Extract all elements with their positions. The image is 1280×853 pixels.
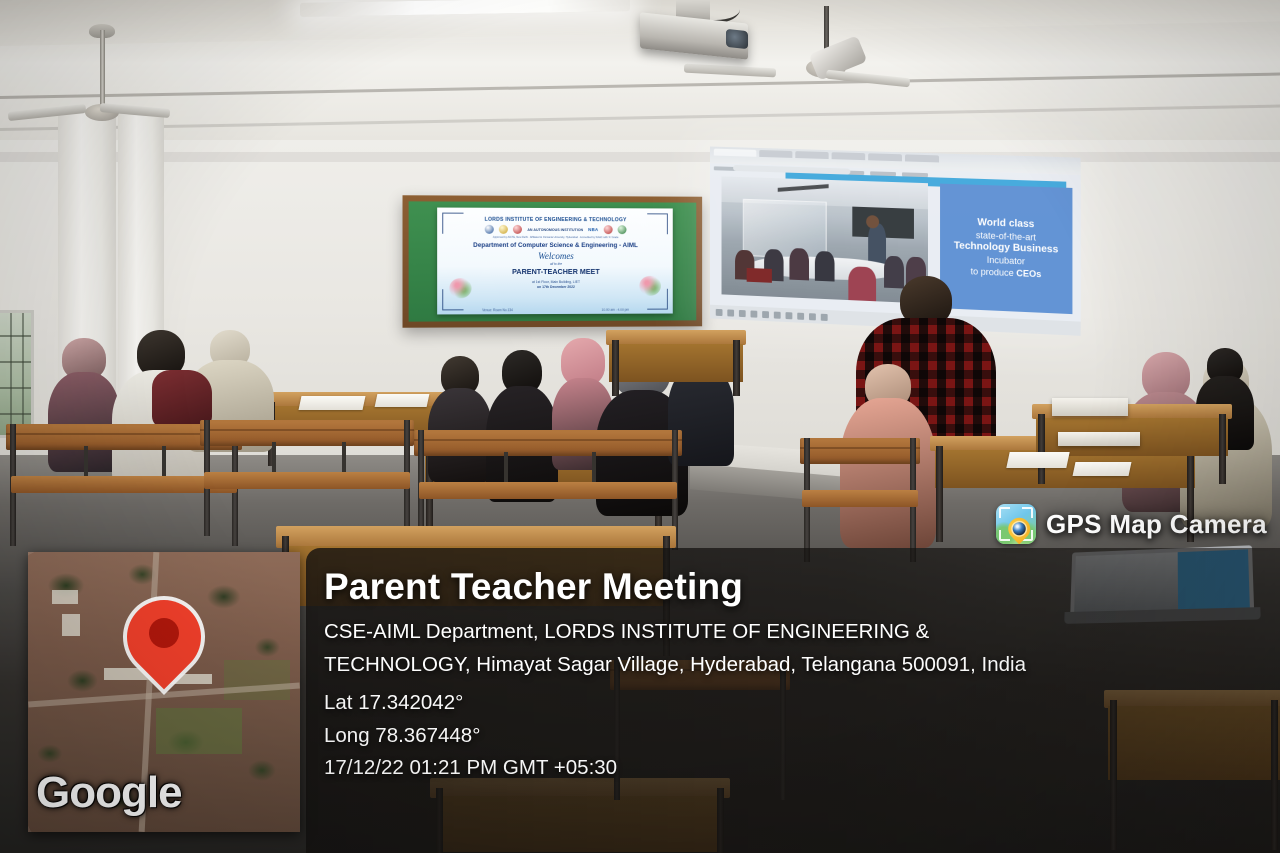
longitude-value: Long 78.367448° [324,720,1264,752]
ceiling-fan-left [42,30,162,82]
map-building-1 [52,590,78,604]
banner-nba: NBA [588,227,598,232]
banner-date: on 17th December 2022 [537,285,575,289]
map-building-2 [62,614,80,636]
latitude-value: Lat 17.342042° [324,687,1264,719]
desk-center-back [606,330,746,386]
flower-decoration-right-icon [639,276,661,296]
paper-right-2 [1073,462,1132,476]
gps-app-name: GPS Map Camera [1046,509,1267,540]
map-field-2 [224,660,290,700]
bench-right [800,438,920,562]
screenshot-root: LORDS INSTITUTE OF ENGINEERING & TECHNOL… [0,0,1280,853]
banner-department: Department of Computer Science & Enginee… [473,242,638,249]
bench-left-front-2 [200,420,414,536]
address-line-2: TECHNOLOGY, Himayat Sagar Village, Hyder… [324,648,1264,681]
flower-decoration-left-icon [449,278,471,298]
banner-all-to-the: all to the [550,262,562,266]
banner-welcomes: Welcomes [538,251,574,261]
gps-map-camera-badge: GPS Map Camera [996,504,1267,544]
paper-on-desk-1 [299,396,366,410]
banner-autonomous: AN AUTONOMOUS INSTITUTION [527,227,583,231]
banner-footer-right: 10.00 am - 4.00 pm [602,308,629,312]
welcome-banner: LORDS INSTITUTE OF ENGINEERING & TECHNOL… [437,208,673,315]
gps-info-panel: Parent Teacher Meeting CSE-AIML Departme… [306,548,1280,853]
accreditation-logo-icon-2 [513,225,522,234]
books-stack-2 [1058,432,1140,446]
banner-event-title: PARENT-TEACHER MEET [512,267,600,276]
google-watermark: Google [36,768,182,818]
window-left [0,310,34,438]
banner-footer: Venue: Room No.134 10.00 am - 4.00 pm [437,308,673,313]
accreditation-logo-icon-4 [617,225,626,234]
banner-accreditation-logos: AN AUTONOMOUS INSTITUTION NBA [485,225,626,234]
notice-board: LORDS INSTITUTE OF ENGINEERING & TECHNOL… [403,195,703,327]
gps-map-camera-icon [996,504,1036,544]
banner-institute: LORDS INSTITUTE OF ENGINEERING & TECHNOL… [485,217,627,223]
map-location-pin-icon [127,600,201,674]
wall-band-lower [0,152,1280,162]
ceiling-fan-right [746,6,906,96]
banner-affiliation-text: Approved by AICTE, New Delhi · Affiliate… [466,236,646,240]
banner-footer-left: Venue: Room No.134 [482,308,513,312]
accreditation-logo-icon-1 [499,225,508,234]
map-field-1 [156,708,242,754]
address-line-1: CSE-AIML Department, LORDS INSTITUTE OF … [324,615,1264,648]
books-stack-1 [1052,398,1128,416]
accreditation-logo-icon-3 [603,225,612,234]
projector-lens [726,29,748,49]
slide-line-5-bold: CEOs [1016,268,1041,279]
lords-logo-icon [485,225,494,234]
banner-venue: at 1st Floor, Main Building, LIET [532,280,580,284]
map-thumbnail[interactable]: Google [28,552,300,832]
page-title: Parent Teacher Meeting [324,568,1264,607]
paper-on-desk-2 [375,394,430,407]
paper-right-1 [1006,452,1069,468]
timestamp-value: 17/12/22 01:21 PM GMT +05:30 [324,752,1264,784]
